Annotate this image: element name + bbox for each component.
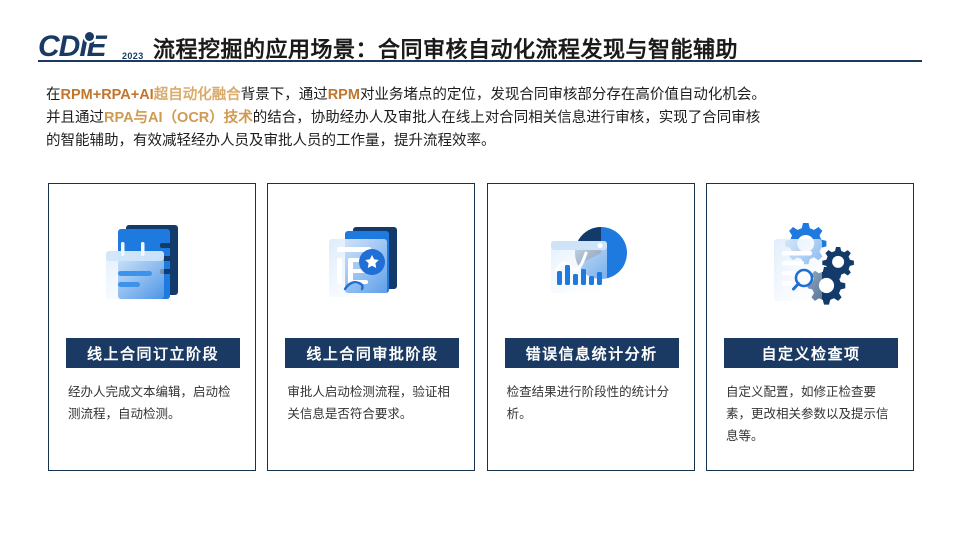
card-banner-label: 错误信息统计分析 — [526, 343, 658, 364]
slide-header: CDIE 2023 流程挖掘的应用场景：合同审核自动化流程发现与智能辅助 — [0, 12, 960, 64]
card-body-custom-check-items: 自定义配置，如修正检查要素，更改相关参数以及提示信息等。 — [726, 381, 898, 447]
document-review-check-icon — [268, 208, 474, 326]
intro-l2-a: 并且通过 — [46, 110, 104, 126]
slide-root: CDIE 2023 流程挖掘的应用场景：合同审核自动化流程发现与智能辅助 在RP… — [0, 0, 960, 540]
intro-l1-b: 背景下，通过 — [241, 87, 328, 103]
intro-highlight-rpm-rpa-ai: RPM+RPA+AI — [61, 87, 154, 103]
card-body-contract-approval: 审批人启动检测流程，验证相关信息是否符合要求。 — [287, 381, 459, 425]
card-banner-label: 自定义检查项 — [761, 343, 860, 364]
logo-wordmark: CDIE — [38, 32, 106, 62]
document-stack-icon — [49, 208, 255, 326]
intro-l2-b: 的结合，协助经办人及审批人在线上对合同相关信息进行审核，实现了合同审核 — [253, 110, 761, 126]
intro-l1-a: 在 — [46, 87, 61, 103]
intro-line-2: 并且通过RPA与AI（OCR）技术的结合，协助经办人及审批人在线上对合同相关信息… — [46, 107, 926, 130]
card-contract-signing[interactable]: 线上合同订立阶段 经办人完成文本编辑，启动检测流程，自动检测。 — [48, 183, 256, 471]
card-banner-error-statistics: 错误信息统计分析 — [505, 338, 679, 368]
card-body-contract-signing: 经办人完成文本编辑，启动检测流程，自动检测。 — [68, 381, 240, 425]
intro-highlight-rpm: RPM — [328, 87, 360, 103]
intro-line-1: 在RPM+RPA+AI超自动化融合背景下，通过RPM对业务堵点的定位，发现合同审… — [46, 84, 926, 107]
statistics-chart-icon — [488, 208, 694, 326]
card-banner-label: 线上合同订立阶段 — [87, 343, 219, 364]
card-custom-check-items[interactable]: 自定义检查项 自定义配置，如修正检查要素，更改相关参数以及提示信息等。 — [706, 183, 914, 471]
intro-l1-c: 对业务堵点的定位，发现合同审核部分存在高价值自动化机会。 — [360, 87, 766, 103]
intro-highlight-rpa-ai-ocr: RPA与AI（OCR）技术 — [104, 110, 253, 126]
logo-dot-icon — [85, 32, 94, 41]
document-gears-settings-icon — [707, 208, 913, 326]
intro-paragraph: 在RPM+RPA+AI超自动化融合背景下，通过RPM对业务堵点的定位，发现合同审… — [46, 84, 926, 153]
card-banner-custom-check-items: 自定义检查项 — [724, 338, 898, 368]
card-banner-label: 线上合同审批阶段 — [306, 343, 438, 364]
card-banner-contract-approval: 线上合同审批阶段 — [285, 338, 459, 368]
card-row: 线上合同订立阶段 经办人完成文本编辑，启动检测流程，自动检测。 — [48, 183, 914, 471]
card-error-statistics[interactable]: 错误信息统计分析 检查结果进行阶段性的统计分析。 — [487, 183, 695, 471]
card-banner-contract-signing: 线上合同订立阶段 — [66, 338, 240, 368]
intro-highlight-hyperautomation: 超自动化融合 — [154, 87, 241, 103]
card-contract-approval[interactable]: 线上合同审批阶段 审批人启动检测流程，验证相关信息是否符合要求。 — [267, 183, 475, 471]
card-body-error-statistics: 检查结果进行阶段性的统计分析。 — [507, 381, 679, 425]
intro-line-3: 的智能辅助，有效减轻经办人员及审批人员的工作量，提升流程效率。 — [46, 130, 926, 153]
header-divider — [38, 60, 922, 62]
